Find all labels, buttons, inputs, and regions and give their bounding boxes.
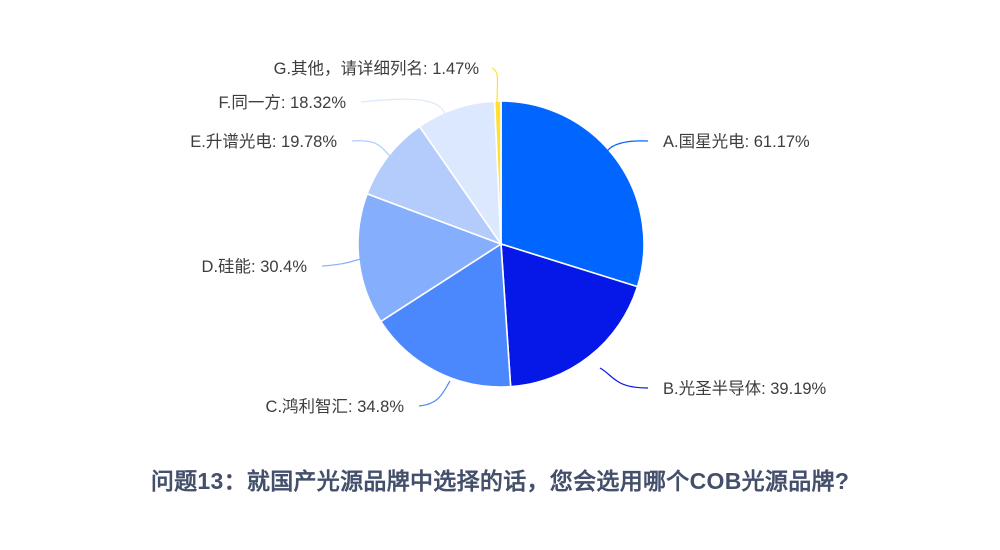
leader-line [492, 68, 498, 104]
slice-label: C.鸿利智汇: 34.8% [266, 397, 405, 416]
slice-label: F.同一方: 18.32% [219, 93, 347, 112]
pie-slices-group [358, 101, 644, 387]
chart-title: 问题13：就国产光源品牌中选择的话，您会选用哪个COB光源品牌? [0, 462, 1000, 496]
leader-line [600, 368, 648, 388]
slice-label: D.硅能: 30.4% [202, 257, 308, 276]
pie-chart-container: A.国星光电: 61.17%B.光圣半导体: 39.19%C.鸿利智汇: 34.… [0, 0, 1000, 550]
slice-label: G.其他，请详细列名: 1.47% [274, 59, 480, 78]
slice-label: B.光圣半导体: 39.19% [663, 379, 827, 398]
leader-line [419, 381, 450, 406]
slice-label: E.升谱光电: 19.78% [190, 132, 337, 151]
slice-label: A.国星光电: 61.17% [663, 132, 810, 151]
